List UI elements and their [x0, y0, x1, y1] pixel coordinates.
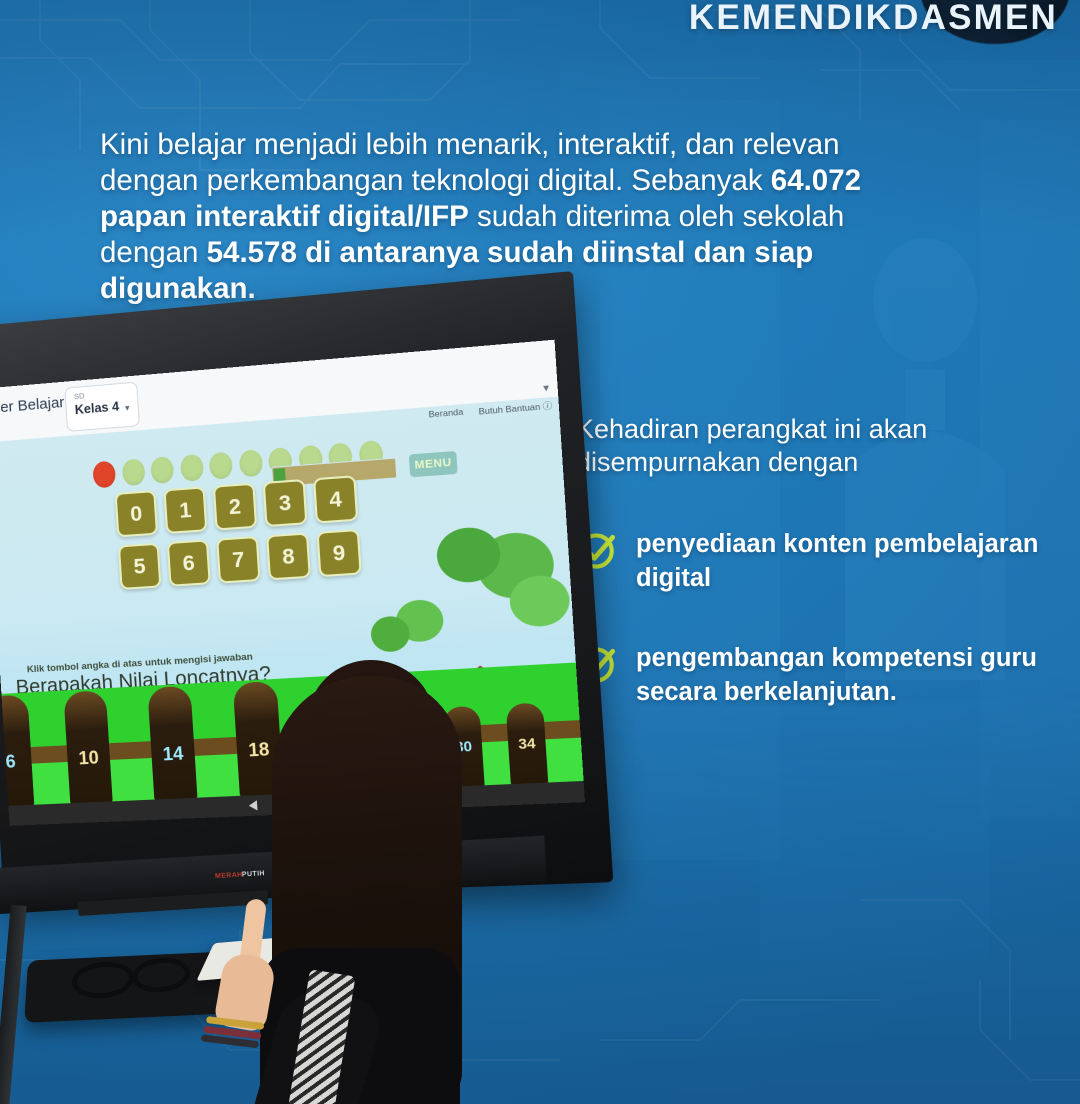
number-keypad[interactable]: 0 1 2 3 4 5 6 7 8 9: [115, 475, 363, 598]
list-item: pengembangan kompetensi guru secara berk…: [576, 641, 1046, 709]
benefit-list: penyediaan konten pembelajaran digital p…: [576, 527, 1046, 709]
key-7[interactable]: 7: [216, 536, 260, 584]
key-5[interactable]: 5: [118, 543, 162, 590]
fence-number-1: 10: [67, 747, 111, 770]
progress-dot: [150, 456, 174, 484]
key-3[interactable]: 3: [263, 479, 308, 527]
class-level-label: SD: [74, 391, 85, 401]
fence-post: 34: [506, 702, 549, 786]
key-9[interactable]: 9: [316, 529, 361, 577]
keypad-row-2: 5 6 7 8 9: [118, 529, 362, 590]
app-title: mber Belajar: [0, 394, 65, 418]
link-butuh-bantuan[interactable]: Butuh Bantuan ⓘ: [478, 399, 552, 417]
student-body: [260, 948, 460, 1104]
progress-dot-current: [92, 461, 116, 489]
menu-button[interactable]: MENU: [409, 451, 458, 477]
progress-dot: [121, 458, 145, 486]
progress-dot: [179, 454, 203, 482]
fence-post: 10: [63, 690, 112, 805]
fence-number-2: 14: [151, 743, 195, 766]
key-8[interactable]: 8: [266, 532, 311, 580]
progress-dot: [209, 452, 233, 480]
student-figure: [252, 648, 467, 1104]
lead-part-1: Kini belajar menjadi lebih menarik, inte…: [100, 128, 840, 197]
right-column: Kehadiran perangkat ini akan disempurnak…: [576, 413, 1046, 755]
poster-root: KEMENDIKDASMEN Kini belajar menjadi lebi…: [0, 0, 1080, 1104]
brand-title: KEMENDIKDASMEN: [0, 0, 1058, 38]
key-6[interactable]: 6: [167, 539, 211, 586]
key-4[interactable]: 4: [313, 475, 358, 523]
key-0[interactable]: 0: [115, 490, 159, 537]
list-item: penyediaan konten pembelajaran digital: [576, 527, 1046, 595]
benefit-text-1: penyediaan konten pembelajaran digital: [636, 527, 1046, 595]
benefit-text-2: pengembangan kompetensi guru secara berk…: [636, 641, 1046, 709]
key-2[interactable]: 2: [213, 483, 257, 531]
link-beranda[interactable]: Beranda: [428, 406, 464, 421]
brand-mark-red: MERAH: [215, 872, 243, 881]
chevron-down-icon: ▾: [125, 403, 130, 414]
progress-dot: [238, 449, 263, 477]
right-column-heading: Kehadiran perangkat ini akan disempurnak…: [576, 413, 1046, 479]
wifi-icon: ▼: [541, 382, 552, 393]
key-1[interactable]: 1: [163, 486, 207, 534]
class-grade-label: Kelas 4: [74, 399, 119, 417]
fence-number-5: 34: [508, 734, 546, 753]
keypad-row-1: 0 1 2 3 4: [115, 475, 359, 537]
fence-post: 14: [147, 686, 197, 802]
class-selector-dropdown[interactable]: SD Kelas 4 ▾: [64, 382, 140, 432]
